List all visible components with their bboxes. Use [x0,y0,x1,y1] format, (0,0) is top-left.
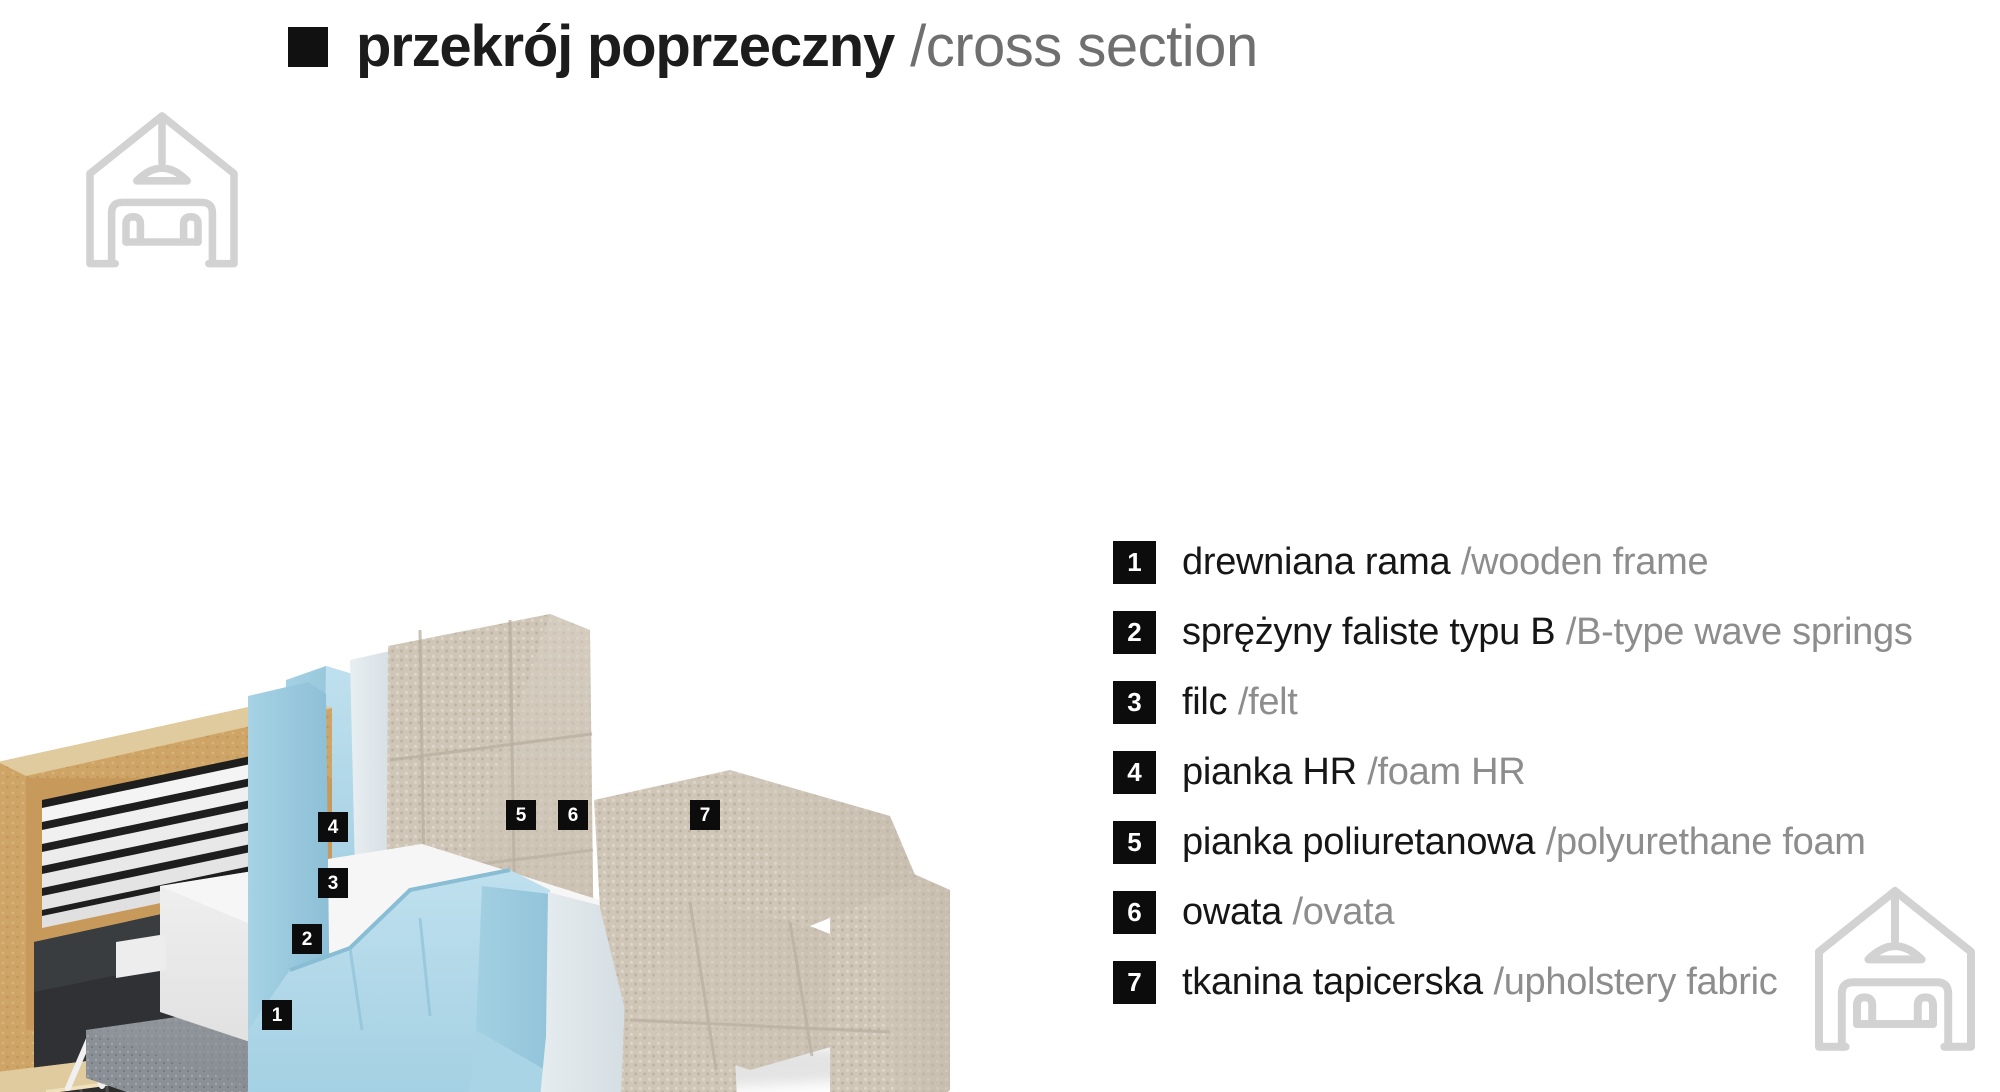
legend-badge-5: 5 [1113,821,1156,864]
legend-label-7: tkanina tapicerska /upholstery fabric [1182,963,1777,1001]
legend-label-1: drewniana rama /wooden frame [1182,543,1708,581]
legend-label-3-en: /felt [1238,681,1298,723]
legend-label-4-en: /foam HR [1367,751,1525,793]
legend-item-2: 2 sprężyny faliste typu B /B-type wave s… [1113,597,1913,667]
legend-label-1-pl: drewniana rama [1182,541,1450,583]
legend-label-5: pianka poliuretanowa /polyurethane foam [1182,823,1866,861]
legend-label-3-pl: filc [1182,681,1227,723]
black-square-bullet-icon [288,27,328,67]
callout-badge-6: 6 [558,800,588,830]
legend-label-6-pl: owata [1182,891,1282,933]
legend-label-7-en: /upholstery fabric [1493,961,1777,1003]
sofa-cross-section-illustration [0,330,1000,1092]
legend-badge-2: 2 [1113,611,1156,654]
legend-item-6: 6 owata /ovata [1113,877,1913,947]
legend-label-4-pl: pianka HR [1182,751,1357,793]
callout-badge-4: 4 [318,812,348,842]
callout-badge-1: 1 [262,1000,292,1030]
legend-label-1-en: /wooden frame [1461,541,1708,583]
page-title: przekrój poprzeczny /cross section [288,18,1258,76]
callout-badge-7: 7 [690,800,720,830]
legend-label-7-pl: tkanina tapicerska [1182,961,1483,1003]
legend-item-5: 5 pianka poliuretanowa /polyurethane foa… [1113,807,1913,877]
legend-label-6: owata /ovata [1182,893,1394,931]
legend-label-5-pl: pianka poliuretanowa [1182,821,1535,863]
legend-badge-1: 1 [1113,541,1156,584]
legend-item-3: 3 filc /felt [1113,667,1913,737]
legend-label-6-en: /ovata [1292,891,1394,933]
legend-label-2-en: /B-type wave springs [1566,611,1913,653]
legend-label-5-en: /polyurethane foam [1546,821,1866,863]
upholstery-fabric-layer [594,770,950,1092]
title-english: /cross section [910,14,1258,79]
callout-badge-5: 5 [506,800,536,830]
legend-list: 1 drewniana rama /wooden frame 2 sprężyn… [1113,527,1913,1017]
legend-item-4: 4 pianka HR /foam HR [1113,737,1913,807]
legend-item-7: 7 tkanina tapicerska /upholstery fabric [1113,947,1913,1017]
legend-badge-6: 6 [1113,891,1156,934]
legend-item-1: 1 drewniana rama /wooden frame [1113,527,1913,597]
callout-badge-3: 3 [318,868,348,898]
legend-badge-7: 7 [1113,961,1156,1004]
legend-label-2-pl: sprężyny faliste typu B [1182,611,1555,653]
legend-label-4: pianka HR /foam HR [1182,753,1525,791]
legend-label-2: sprężyny faliste typu B /B-type wave spr… [1182,613,1913,651]
legend-badge-4: 4 [1113,751,1156,794]
legend-label-3: filc /felt [1182,683,1298,721]
house-lamp-sofa-logo-icon [72,98,252,278]
callout-badge-2: 2 [292,924,322,954]
title-polish: przekrój poprzeczny [356,14,894,79]
legend-badge-3: 3 [1113,681,1156,724]
title-text: przekrój poprzeczny /cross section [356,18,1258,76]
